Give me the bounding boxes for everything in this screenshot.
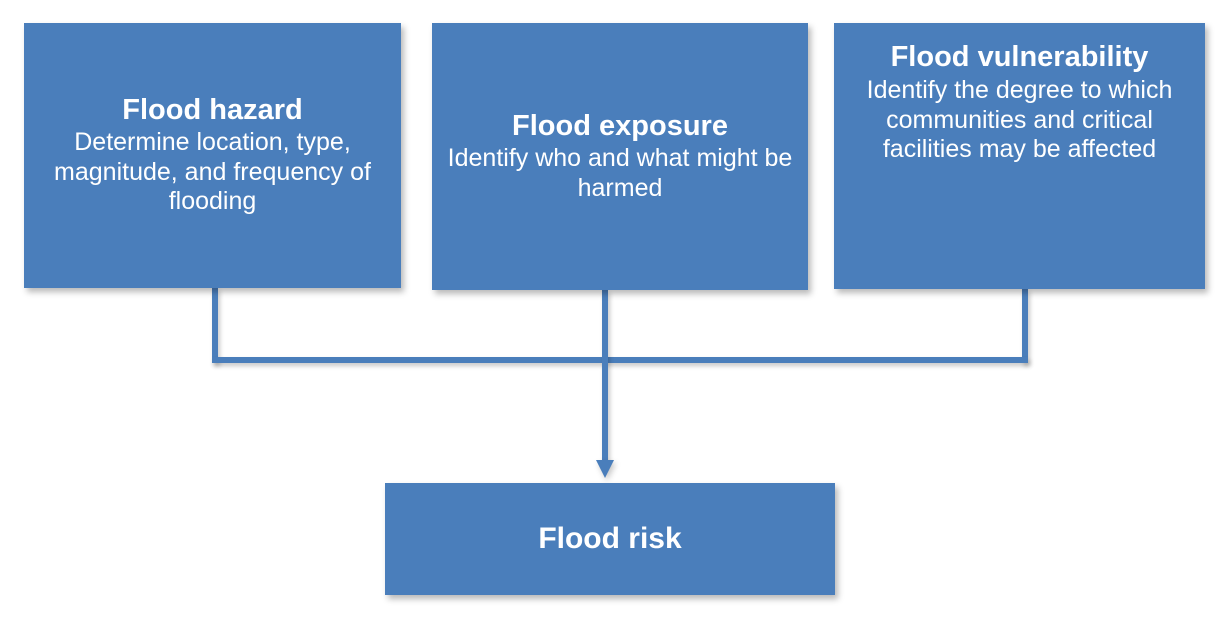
node-flood-hazard-description: Determine location, type, magnitude, and… bbox=[38, 128, 387, 217]
connector-vulnerability-to-bus bbox=[1022, 289, 1028, 363]
connector-exposure-to-risk bbox=[602, 290, 608, 462]
node-flood-risk-title: Flood risk bbox=[538, 522, 681, 556]
node-flood-risk: Flood risk bbox=[385, 483, 835, 595]
node-flood-vulnerability-description: Identify the degree to which communities… bbox=[848, 76, 1191, 165]
node-flood-exposure-description: Identify who and what might be harmed bbox=[446, 144, 794, 203]
node-flood-exposure: Flood exposure Identify who and what mig… bbox=[432, 23, 808, 290]
node-flood-vulnerability-title: Flood vulnerability bbox=[891, 41, 1149, 73]
connector-merge-bus bbox=[212, 357, 1028, 363]
arrowhead-icon bbox=[596, 460, 614, 478]
node-flood-hazard: Flood hazard Determine location, type, m… bbox=[24, 23, 401, 288]
connector-hazard-to-bus bbox=[212, 288, 218, 363]
node-flood-hazard-title: Flood hazard bbox=[122, 94, 302, 126]
flood-risk-diagram: Flood hazard Determine location, type, m… bbox=[0, 0, 1229, 620]
node-flood-exposure-title: Flood exposure bbox=[512, 110, 728, 142]
node-flood-vulnerability: Flood vulnerability Identify the degree … bbox=[834, 23, 1205, 289]
